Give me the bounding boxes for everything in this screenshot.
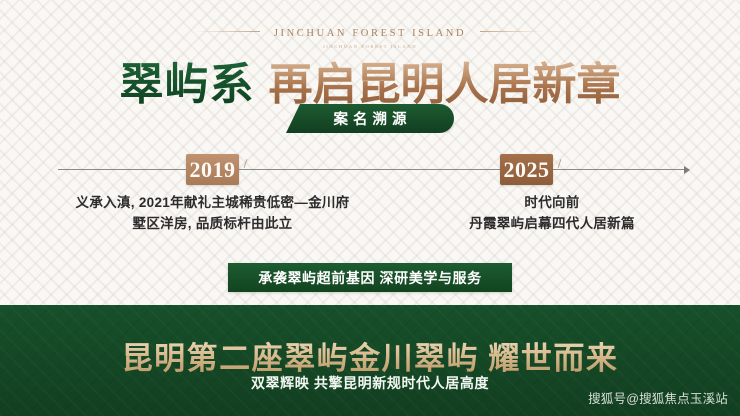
- timeline-tick-icon: [244, 159, 248, 168]
- timeline-year-label: 2025: [504, 157, 550, 183]
- timeline-axis: [58, 169, 688, 170]
- page-title: 翠屿系再启昆明人居新章: [0, 48, 740, 112]
- timeline-tick-icon: [558, 159, 562, 168]
- timeline-year-badge-2025: 2025: [500, 154, 553, 185]
- promo-poster: JINCHUAN FOREST ISLAND JINCHUAN FOREST I…: [0, 0, 740, 416]
- brand-lockup: JINCHUAN FOREST ISLAND JINCHUAN FOREST I…: [0, 26, 740, 50]
- timeline-year-label: 2019: [190, 157, 236, 183]
- brand-rule-left-icon: [196, 31, 260, 32]
- footer-panel: 昆明第二座翠屿金川翠屿 耀世而来 双翠辉映 共擎昆明新规时代人居高度 搜狐号@搜…: [0, 305, 740, 416]
- footer-title: 昆明第二座翠屿金川翠屿 耀世而来: [0, 333, 740, 378]
- section-ribbon: 案名溯源: [286, 104, 454, 133]
- headline-series: 翠屿系: [120, 60, 255, 109]
- timeline-arrow-icon: [684, 166, 690, 174]
- timeline-description-2025: 时代向前 丹霞翠屿启幕四代人居新篇: [352, 192, 740, 234]
- brand-rule-right-icon: [480, 31, 544, 32]
- tagline-bar-label: 承袭翠屿超前基因 深研美学与服务: [258, 268, 482, 288]
- watermark: 搜狐号@搜狐焦点玉溪站: [588, 388, 728, 407]
- headline-main: 再启昆明人居新章: [269, 60, 621, 109]
- tagline-bar: 承袭翠屿超前基因 深研美学与服务: [228, 263, 512, 292]
- timeline-description-line: 时代向前: [352, 192, 740, 213]
- timeline-description-line: 丹霞翠屿启幕四代人居新篇: [352, 213, 740, 234]
- brand-name: JINCHUAN FOREST ISLAND: [274, 29, 466, 40]
- timeline-year-badge-2019: 2019: [186, 154, 239, 185]
- section-ribbon-label: 案名溯源: [329, 108, 412, 129]
